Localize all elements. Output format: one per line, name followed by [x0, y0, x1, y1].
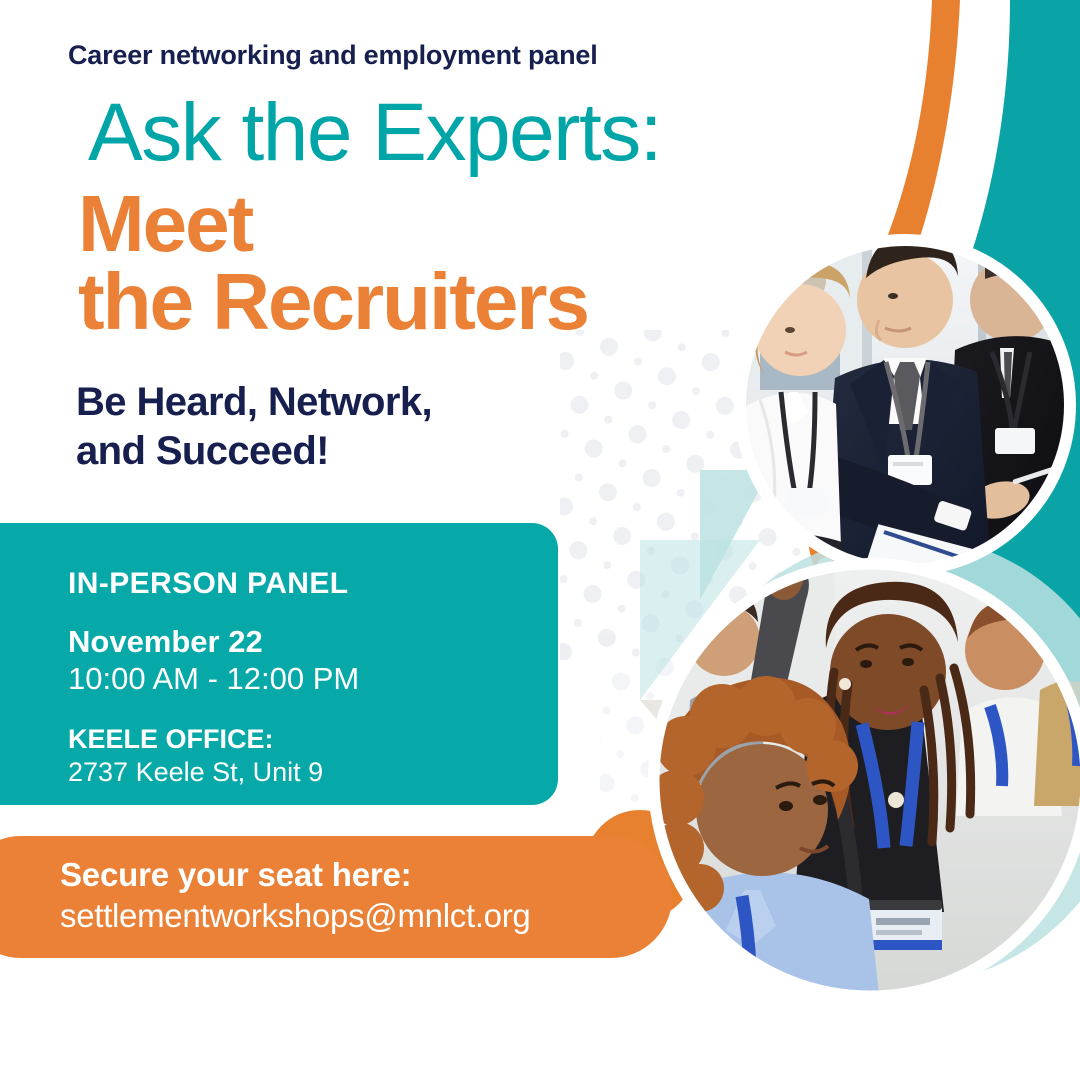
teal-triangle-accent-2: [640, 540, 760, 700]
event-format-label: IN-PERSON PANEL: [68, 567, 558, 601]
audience-photo: [639, 548, 1080, 1002]
title-line-recruiters: the Recruiters: [78, 263, 588, 341]
title-line-meet: Meet: [78, 185, 588, 263]
page-title-primary: Ask the Experts:: [88, 92, 661, 174]
dot-pattern: [560, 330, 860, 810]
event-details-card: IN-PERSON PANEL November 22 10:00 AM - 1…: [0, 523, 558, 805]
registration-cta-band[interactable]: Secure your seat here: settlementworksho…: [0, 836, 672, 958]
event-location-label: KEELE OFFICE:: [68, 723, 558, 756]
page-subtitle: Be Heard, Network, and Succeed!: [76, 378, 432, 476]
subtitle-line-2: and Succeed!: [76, 427, 432, 476]
light-teal-circle: [680, 535, 1080, 985]
event-time: 10:00 AM - 12:00 PM: [68, 660, 558, 697]
orange-swoosh-shape: [804, 0, 1080, 718]
panel-recruiters-photo: [735, 234, 1075, 628]
teal-swoosh-shape: [880, 0, 1080, 690]
event-date: November 22: [68, 625, 558, 660]
cta-heading: Secure your seat here:: [60, 854, 672, 895]
page-title-secondary: Meet the Recruiters: [78, 185, 588, 342]
footer-logos: MNLC Ontario: [0, 965, 1080, 1080]
teal-triangle-accent: [700, 470, 770, 600]
kicker-text: Career networking and employment panel: [68, 40, 598, 71]
event-poster: Career networking and employment panel A…: [0, 0, 1080, 1080]
subtitle-line-1: Be Heard, Network,: [76, 378, 432, 427]
event-address: 2737 Keele St, Unit 9: [68, 756, 558, 789]
cta-email-link[interactable]: settlementworkshops@mnlct.org: [60, 895, 672, 938]
beige-accent: [640, 700, 700, 770]
